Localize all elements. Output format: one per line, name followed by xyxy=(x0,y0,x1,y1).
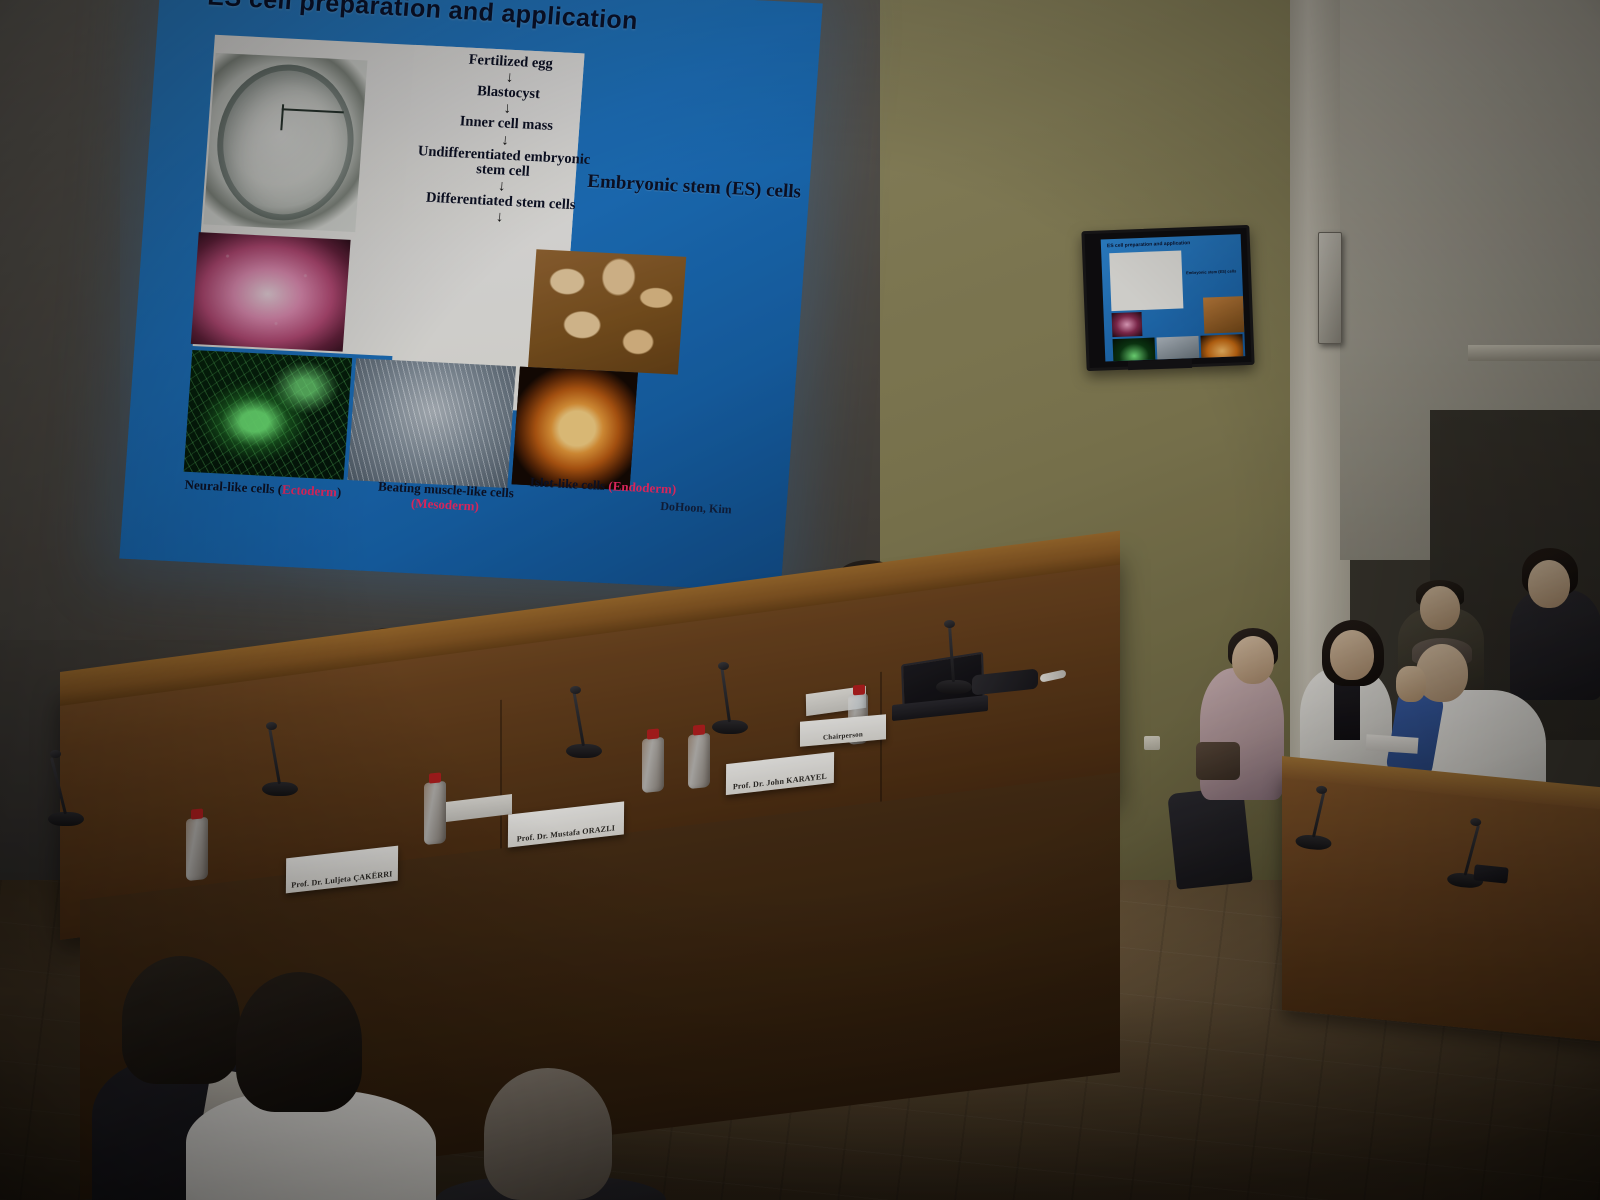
water-bottle xyxy=(186,817,208,881)
head-back-of-head xyxy=(122,956,240,1084)
wall-monitor-side-label: Embryonic stem (ES) cells xyxy=(1186,268,1236,275)
audience-desk xyxy=(1282,770,1600,1042)
wall-speaker-icon xyxy=(1318,232,1342,344)
water-bottle xyxy=(424,781,446,845)
caption-islet-text: Islet-like cells xyxy=(529,474,609,493)
head xyxy=(1528,560,1570,608)
wall-monitor-thumb-pink xyxy=(1112,312,1143,337)
torso xyxy=(1200,668,1284,800)
head xyxy=(1420,586,1460,630)
legs xyxy=(1167,786,1253,889)
head-back-of-head xyxy=(236,972,362,1112)
caption-neural-text: Neural-like cells ( xyxy=(184,477,282,497)
caption-muscle-germlayer: (Mesoderm) xyxy=(411,495,480,513)
head xyxy=(1330,630,1374,680)
slide-title: ES cell preparation and application xyxy=(207,0,768,44)
head-back-of-head xyxy=(484,1068,612,1200)
wall-monitor-thumb-green xyxy=(1113,338,1156,362)
wall-monitor-thumb-orange xyxy=(1200,334,1243,361)
handbag-icon xyxy=(1196,742,1240,780)
caption-neural-end: ) xyxy=(336,484,341,499)
blastocyst-marker-h xyxy=(282,108,344,113)
head xyxy=(1232,636,1274,684)
wall-outlet xyxy=(1144,736,1160,750)
green-neural-cells xyxy=(184,350,353,480)
caption-neural: Neural-like cells (Ectoderm) xyxy=(184,478,342,501)
wall-monitor-title: ES cell preparation and application xyxy=(1107,240,1191,249)
slide-content: Fertilized egg ↓ Blastocyst ↓ Inner cell… xyxy=(161,34,753,511)
caption-author: DoHoon, Kim xyxy=(660,500,732,517)
caption-islet-germlayer: (Endoderm) xyxy=(608,478,677,496)
projected-slide: ES cell preparation and application Fert… xyxy=(119,0,822,592)
wall-monitor-thumb-brown xyxy=(1203,296,1244,334)
pink-fluorescent-colony xyxy=(191,232,351,351)
orange-islet-cluster xyxy=(512,367,638,491)
gray-muscle-cells xyxy=(347,358,516,488)
wall-monitor-panel xyxy=(1109,250,1183,311)
blastocyst-micrograph xyxy=(203,53,367,232)
wall-monitor: ES cell preparation and application Embr… xyxy=(1081,225,1254,371)
alcove-trim xyxy=(1468,345,1600,361)
differentiation-flowchart: Fertilized egg ↓ Blastocyst ↓ Inner cell… xyxy=(404,49,606,229)
wall-monitor-thumb-gray xyxy=(1157,336,1200,362)
lecture-hall-scene: ES cell preparation and application Fert… xyxy=(0,0,1600,1200)
caption-neural-germlayer: Ectoderm xyxy=(282,482,338,500)
water-bottle xyxy=(642,737,664,793)
water-bottle xyxy=(688,733,710,789)
brown-stem-cell-colonies xyxy=(528,249,686,374)
slide-side-label: Embryonic stem (ES) cells xyxy=(587,172,838,205)
hand xyxy=(1396,666,1426,702)
caption-muscle: Beating muscle-like cells(Mesoderm) xyxy=(359,479,531,517)
phone-icon xyxy=(1473,864,1508,883)
wall-monitor-screen: ES cell preparation and application Embr… xyxy=(1101,234,1246,361)
caption-islet: Islet-like cells (Endoderm) xyxy=(529,475,677,497)
blastocyst-marker-v xyxy=(280,104,284,130)
